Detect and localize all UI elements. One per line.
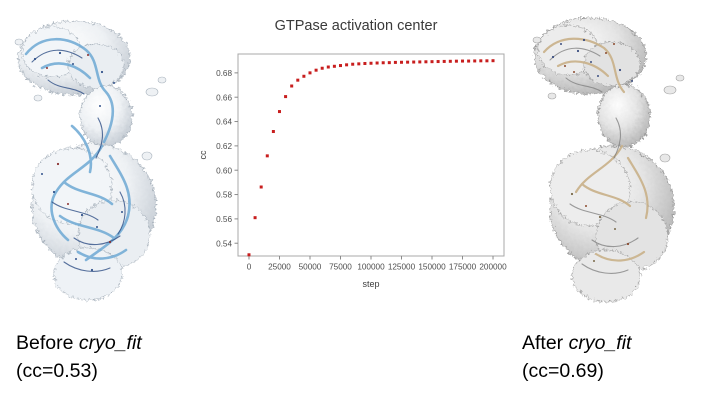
data-point bbox=[284, 95, 287, 98]
data-point bbox=[485, 59, 488, 62]
data-point bbox=[308, 71, 311, 74]
data-point bbox=[394, 61, 397, 64]
data-point bbox=[467, 60, 470, 63]
data-point bbox=[479, 59, 482, 62]
before-caption-prefix: Before bbox=[16, 332, 79, 354]
x-tick-label: 125000 bbox=[388, 263, 416, 272]
data-point bbox=[345, 63, 348, 66]
data-point bbox=[363, 62, 366, 65]
data-point bbox=[449, 60, 452, 63]
data-point bbox=[254, 216, 257, 219]
before-structure-render bbox=[2, 6, 202, 321]
data-point bbox=[351, 63, 354, 66]
before-caption: Before cryo_fit (cc=0.53) bbox=[16, 330, 142, 385]
plot-area-wrapper: 0.540.560.580.600.620.640.660.6802500050… bbox=[196, 46, 516, 302]
density-body-lobe bbox=[32, 144, 156, 300]
density-body-lobe bbox=[550, 146, 674, 302]
before-caption-tool: cryo_fit bbox=[79, 332, 142, 354]
data-point bbox=[357, 62, 360, 65]
y-tick-label: 0.64 bbox=[216, 118, 232, 127]
after-caption-tool: cryo_fit bbox=[569, 332, 632, 354]
data-point bbox=[424, 60, 427, 63]
y-tick-label: 0.68 bbox=[216, 69, 232, 78]
data-point bbox=[260, 186, 263, 189]
density-neck bbox=[598, 85, 650, 147]
cc-vs-step-chart: GTPase activation center 0.540.560.580.6… bbox=[196, 12, 516, 302]
after-caption-prefix: After bbox=[522, 332, 569, 354]
data-point bbox=[339, 64, 342, 67]
y-tick-label: 0.60 bbox=[216, 166, 232, 175]
x-tick-label: 0 bbox=[247, 263, 252, 272]
data-point bbox=[333, 65, 336, 68]
scatter-plot-svg: 0.540.560.580.600.620.640.660.6802500050… bbox=[196, 46, 516, 302]
y-axis-label: cc bbox=[198, 150, 208, 160]
data-point bbox=[455, 60, 458, 63]
x-tick-label: 25000 bbox=[268, 263, 291, 272]
data-point bbox=[247, 253, 250, 256]
y-tick-label: 0.56 bbox=[216, 215, 232, 224]
data-point bbox=[278, 110, 281, 113]
data-point bbox=[327, 66, 330, 69]
data-point bbox=[492, 59, 495, 62]
data-point bbox=[370, 62, 373, 65]
x-tick-label: 200000 bbox=[479, 263, 507, 272]
x-tick-label: 150000 bbox=[418, 263, 446, 272]
data-point bbox=[290, 85, 293, 88]
data-series-cc bbox=[247, 59, 494, 256]
y-tick-label: 0.58 bbox=[216, 191, 232, 200]
y-tick-label: 0.54 bbox=[216, 239, 232, 248]
data-point bbox=[437, 60, 440, 63]
x-tick-label: 175000 bbox=[449, 263, 477, 272]
chart-title: GTPase activation center bbox=[196, 18, 516, 34]
data-point bbox=[382, 61, 385, 64]
plot-frame bbox=[238, 54, 504, 256]
x-tick-label: 50000 bbox=[299, 263, 322, 272]
density-head-lobe bbox=[534, 18, 646, 94]
data-point bbox=[461, 60, 464, 63]
data-point bbox=[376, 62, 379, 65]
data-point bbox=[473, 59, 476, 62]
data-point bbox=[296, 79, 299, 82]
data-point bbox=[400, 61, 403, 64]
data-point bbox=[431, 60, 434, 63]
data-point bbox=[388, 61, 391, 64]
after-caption-cc: (cc=0.69) bbox=[522, 358, 631, 386]
before-caption-cc: (cc=0.53) bbox=[16, 358, 142, 386]
data-point bbox=[443, 60, 446, 63]
data-point bbox=[266, 154, 269, 157]
data-point bbox=[315, 69, 318, 72]
x-axis-label: step bbox=[362, 279, 379, 289]
before-cryo-fit-structure bbox=[2, 6, 202, 321]
y-tick-label: 0.66 bbox=[216, 93, 232, 102]
slide-canvas: GTPase activation center 0.540.560.580.6… bbox=[0, 0, 720, 409]
after-structure-render bbox=[518, 6, 718, 321]
data-point bbox=[302, 75, 305, 78]
data-point bbox=[272, 130, 275, 133]
y-tick-label: 0.62 bbox=[216, 142, 232, 151]
x-tick-label: 100000 bbox=[357, 263, 385, 272]
x-tick-label: 75000 bbox=[329, 263, 352, 272]
data-point bbox=[321, 67, 324, 70]
after-caption: After cryo_fit (cc=0.69) bbox=[522, 330, 631, 385]
after-cryo-fit-structure bbox=[518, 6, 718, 321]
data-point bbox=[406, 61, 409, 64]
data-point bbox=[418, 60, 421, 63]
data-point bbox=[412, 61, 415, 64]
